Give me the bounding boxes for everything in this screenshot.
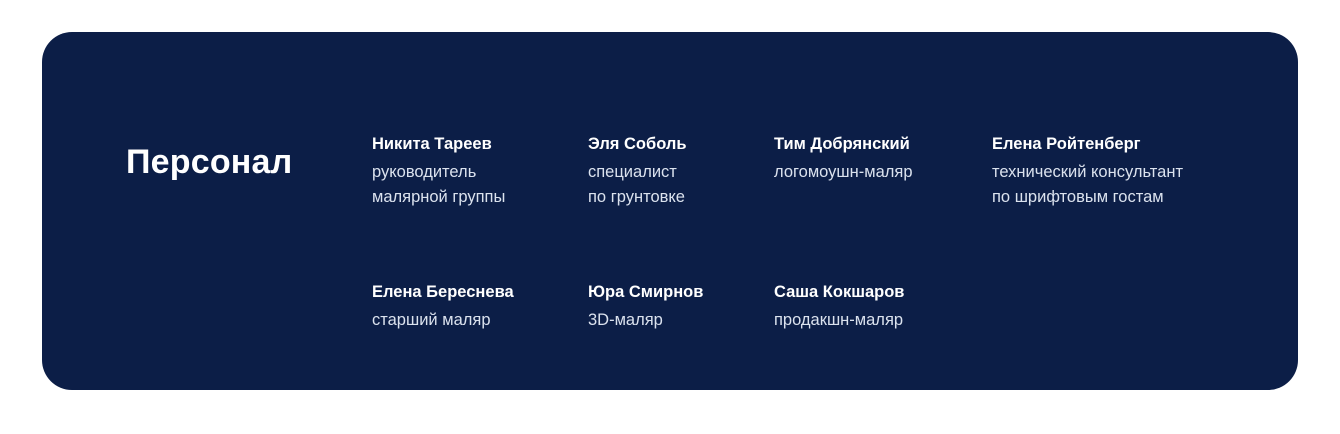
- staff-member-role-line: руководитель: [372, 160, 588, 185]
- staff-slot-empty: [992, 280, 1272, 333]
- staff-member-role: специалистпо грунтовке: [588, 160, 774, 210]
- staff-member-role-line: продакшн-маляр: [774, 308, 992, 333]
- staff-member: Тим Добрянскийлогомоушн-маляр: [774, 132, 992, 210]
- staff-member-role: руководительмалярной группы: [372, 160, 588, 210]
- staff-member-name: Эля Соболь: [588, 132, 774, 157]
- staff-member-role-line: по грунтовке: [588, 185, 774, 210]
- staff-member-name: Тим Добрянский: [774, 132, 992, 157]
- staff-card: Персонал Никита Тареевруководительмалярн…: [42, 32, 1298, 390]
- staff-member-name: Юра Смирнов: [588, 280, 774, 305]
- staff-member-role-line: специалист: [588, 160, 774, 185]
- staff-member-role-line: малярной группы: [372, 185, 588, 210]
- page-title: Персонал: [126, 145, 292, 179]
- staff-member-role: логомоушн-маляр: [774, 160, 992, 185]
- staff-member-name: Никита Тареев: [372, 132, 588, 157]
- staff-member-name: Елена Ройтенберг: [992, 132, 1272, 157]
- staff-member: Елена Ройтенбергтехнический консультантп…: [992, 132, 1272, 210]
- staff-list: Никита Тареевруководительмалярной группы…: [372, 132, 1270, 333]
- staff-member-name: Саша Кокшаров: [774, 280, 992, 305]
- staff-member: Юра Смирнов3D-маляр: [588, 280, 774, 333]
- staff-member: Саша Кокшаровпродакшн-маляр: [774, 280, 992, 333]
- staff-member-role: технический консультантпо шрифтовым гост…: [992, 160, 1272, 210]
- staff-member-role-line: технический консультант: [992, 160, 1272, 185]
- staff-member-role: старший маляр: [372, 308, 588, 333]
- staff-member: Эля Собольспециалистпо грунтовке: [588, 132, 774, 210]
- staff-member-name: Елена Береснева: [372, 280, 588, 305]
- staff-member-role-line: старший маляр: [372, 308, 588, 333]
- staff-member-role: продакшн-маляр: [774, 308, 992, 333]
- staff-member-role-line: логомоушн-маляр: [774, 160, 992, 185]
- staff-member: Никита Тареевруководительмалярной группы: [372, 132, 588, 210]
- page-root: Персонал Никита Тареевруководительмалярн…: [0, 0, 1340, 434]
- staff-member-role: 3D-маляр: [588, 308, 774, 333]
- staff-member-role-line: 3D-маляр: [588, 308, 774, 333]
- staff-member-role-line: по шрифтовым гостам: [992, 185, 1272, 210]
- staff-member: Елена Бересневастарший маляр: [372, 280, 588, 333]
